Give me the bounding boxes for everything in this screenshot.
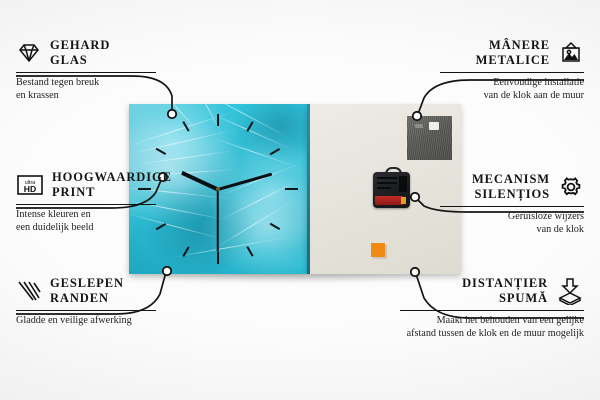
diamond-icon xyxy=(16,41,42,65)
callout-geslepen-randen[interactable]: GESLEPEN RANDEN Gladde en veilige afwerk… xyxy=(16,276,156,328)
clock-minute-hand xyxy=(218,173,273,191)
callout-manere-metalice[interactable]: MÂNERE METALICE Eenvoudige installatie v… xyxy=(440,38,584,103)
callout-header: GESLEPEN RANDEN xyxy=(16,276,156,307)
svg-text:HD: HD xyxy=(24,184,36,194)
ultra-hd-icon: ultra HD xyxy=(16,173,44,197)
callout-title: GESLEPEN RANDEN xyxy=(50,276,124,307)
clock-hour-hand xyxy=(181,171,219,191)
clock-tick xyxy=(156,148,166,155)
callout-header: DISTANȚIER SPUMĂ xyxy=(400,276,584,307)
callout-hoogwaardige-print[interactable]: ultra HD HOOGWAARDIGE PRINT Intense kleu… xyxy=(16,170,156,235)
clock-tick xyxy=(285,188,298,190)
gear-icon xyxy=(558,175,584,199)
callout-title: HOOGWAARDIGE PRINT xyxy=(52,170,172,201)
callout-mecanism-silentios[interactable]: MECANISM SILENȚIOS Geruisloze wijzers va… xyxy=(440,172,584,237)
callout-header: MECANISM SILENȚIOS xyxy=(440,172,584,203)
product-image xyxy=(129,104,461,274)
arrow-down-stack-icon xyxy=(556,277,584,305)
clock-back-panel xyxy=(307,104,461,274)
callout-subtitle: Maakt het behouden van een gelijke afsta… xyxy=(400,315,584,341)
callout-divider xyxy=(440,206,584,208)
clock-tick xyxy=(246,121,253,131)
callout-divider xyxy=(400,310,584,312)
callout-header: GEHARD GLAS xyxy=(16,38,156,69)
battery xyxy=(375,196,403,205)
callout-subtitle: Bestand tegen breuk en krassen xyxy=(16,77,156,103)
callout-header: ultra HD HOOGWAARDIGE PRINT xyxy=(16,170,156,201)
clock-tick xyxy=(182,121,189,131)
hanging-picture-icon xyxy=(558,41,584,65)
callout-subtitle: Intense kleuren en een duidelijk beeld xyxy=(16,209,156,235)
metal-handle-swatch xyxy=(407,116,452,160)
clock-mechanism xyxy=(373,172,410,208)
infographic-canvas: GEHARD GLAS Bestand tegen breuk en krass… xyxy=(0,0,600,400)
clock-tick xyxy=(217,252,219,264)
clock-tick xyxy=(270,223,280,230)
clock-tick xyxy=(246,246,253,256)
callout-title: GEHARD GLAS xyxy=(50,38,110,69)
callout-title: MÂNERE METALICE xyxy=(476,38,550,69)
clock-tick xyxy=(182,246,189,256)
callout-distantier-spuma[interactable]: DISTANȚIER SPUMĂ Maakt het behouden van … xyxy=(400,276,584,341)
clock-tick xyxy=(270,148,280,155)
callout-header: MÂNERE METALICE xyxy=(440,38,584,69)
callout-subtitle: Gladde en veilige afwerking xyxy=(16,315,156,328)
callout-subtitle: Eenvoudige installatie van de klok aan d… xyxy=(440,77,584,103)
clock-tick xyxy=(156,223,166,230)
clock-center-hub xyxy=(216,187,220,191)
callout-title: DISTANȚIER SPUMĂ xyxy=(462,276,548,307)
callout-divider xyxy=(440,72,584,74)
clock-tick xyxy=(217,114,219,126)
callout-divider xyxy=(16,310,156,312)
clock-second-hand xyxy=(217,190,219,252)
callout-title: MECANISM SILENȚIOS xyxy=(472,172,550,203)
bevelled-edges-icon xyxy=(16,279,42,303)
callout-gehard-glas[interactable]: GEHARD GLAS Bestand tegen breuk en krass… xyxy=(16,38,156,103)
callout-divider xyxy=(16,72,156,74)
callout-subtitle: Geruisloze wijzers van de klok xyxy=(440,211,584,237)
callout-divider xyxy=(16,204,156,206)
foam-spacer xyxy=(371,243,385,257)
